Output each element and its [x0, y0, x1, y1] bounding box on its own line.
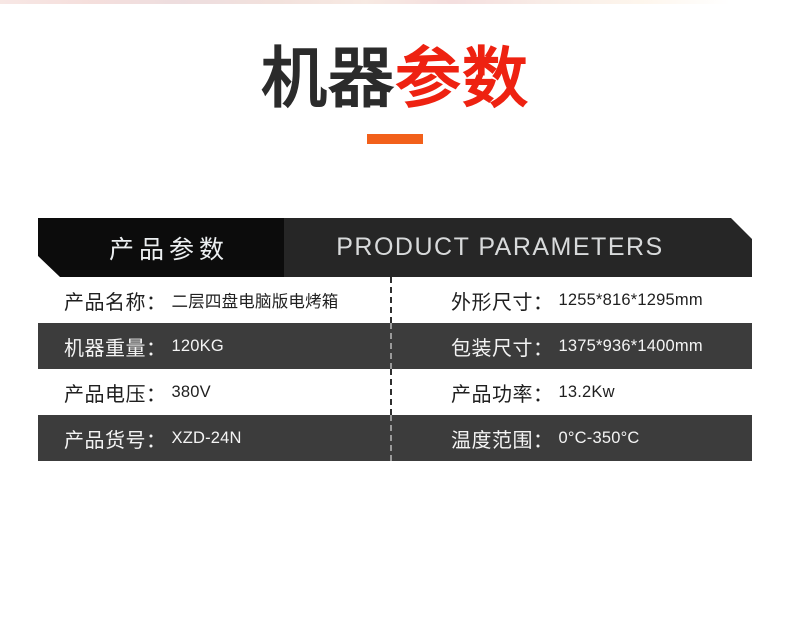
corner-notch-bottom-left-icon [38, 256, 59, 277]
panel-header-right: PRODUCT PARAMETERS [284, 218, 752, 277]
panel-header-left-label: 产品参数 [93, 230, 229, 266]
param-value: 1375*936*1400mm [559, 337, 703, 356]
param-value: 13.2Kw [559, 383, 615, 402]
param-cell-right: 包装尺寸： 1375*936*1400mm [395, 323, 752, 369]
page-title: 机器参数 [0, 46, 790, 144]
param-cell-right: 外形尺寸： 1255*816*1295mm [395, 277, 752, 323]
parameters-rows: 产品名称： 二层四盘电脑版电烤箱 外形尺寸： 1255*816*1295mm 机… [38, 277, 752, 461]
param-value: XZD-24N [172, 429, 242, 448]
param-label: 产品功率： [451, 378, 554, 407]
table-row: 产品电压： 380V 产品功率： 13.2Kw [38, 369, 752, 415]
column-divider [390, 415, 392, 461]
param-cell-left: 产品名称： 二层四盘电脑版电烤箱 [38, 277, 395, 323]
param-value: 380V [172, 383, 211, 402]
param-label: 机器重量： [64, 332, 167, 361]
param-value: 120KG [172, 337, 224, 356]
param-label: 包装尺寸： [451, 332, 554, 361]
page-title-accent: 参数 [395, 40, 529, 117]
param-label: 外形尺寸： [451, 286, 554, 315]
param-value: 1255*816*1295mm [559, 291, 703, 310]
table-row: 产品货号： XZD-24N 温度范围： 0°C-350°C [38, 415, 752, 461]
param-label: 温度范围： [451, 424, 554, 453]
param-cell-right: 温度范围： 0°C-350°C [395, 415, 752, 461]
page-title-text: 机器参数 [0, 46, 790, 112]
param-label: 产品名称： [64, 286, 167, 315]
table-row: 产品名称： 二层四盘电脑版电烤箱 外形尺寸： 1255*816*1295mm [38, 277, 752, 323]
param-value: 0°C-350°C [559, 429, 640, 448]
column-divider [390, 277, 392, 323]
param-cell-left: 机器重量： 120KG [38, 323, 395, 369]
title-underline-bar [367, 134, 423, 144]
param-label: 产品电压： [64, 378, 167, 407]
column-divider [390, 323, 392, 369]
panel-header-right-label: PRODUCT PARAMETERS [336, 233, 700, 262]
param-cell-right: 产品功率： 13.2Kw [395, 369, 752, 415]
panel-header-left: 产品参数 [38, 218, 284, 277]
column-divider [390, 369, 392, 415]
param-cell-left: 产品电压： 380V [38, 369, 395, 415]
top-image-sliver [0, 0, 730, 4]
param-label: 产品货号： [64, 424, 167, 453]
panel-header: 产品参数 PRODUCT PARAMETERS [38, 218, 752, 277]
corner-notch-top-right-icon [731, 218, 752, 239]
product-parameters-panel: 产品参数 PRODUCT PARAMETERS 产品名称： 二层四盘电脑版电烤箱… [38, 218, 752, 461]
table-row: 机器重量： 120KG 包装尺寸： 1375*936*1400mm [38, 323, 752, 369]
param-cell-left: 产品货号： XZD-24N [38, 415, 395, 461]
page-title-primary: 机器 [261, 40, 395, 117]
param-value: 二层四盘电脑版电烤箱 [172, 288, 339, 312]
